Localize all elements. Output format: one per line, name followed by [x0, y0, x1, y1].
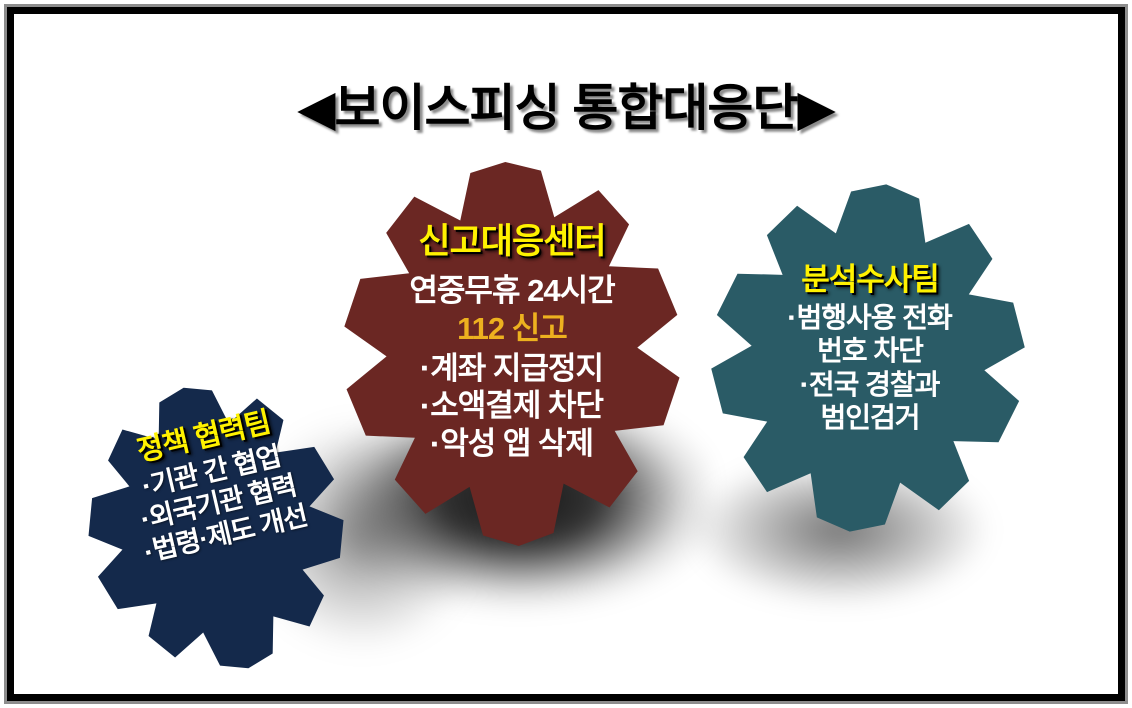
- analysis-team-line-2: ▪전국 경찰과: [700, 369, 1040, 401]
- analysis-team-line-0-text: 범행사용 전화: [796, 302, 951, 333]
- bullet-icon: ▪: [431, 434, 437, 456]
- analysis-team-line-3: 범인검거: [700, 402, 1040, 434]
- report-center-line-4: ▪악성 앱 삭제: [316, 426, 708, 462]
- report-center-line-1: 112 신고: [316, 311, 708, 347]
- bullet-icon: ▪: [421, 358, 427, 380]
- analysis-team-line-2-text: 전국 경찰과: [809, 369, 940, 400]
- report-center-line-2-text: 계좌 지급정지: [430, 351, 603, 386]
- report-center-textblock: 신고대응센터 연중무휴 24시간 112 신고 ▪계좌 지급정지 ▪소액결제 차…: [316, 222, 708, 464]
- report-center-line-0: 연중무휴 24시간: [316, 273, 708, 309]
- analysis-team-textblock: 분석수사팀 ▪범행사용 전화 번호 차단 ▪전국 경찰과 범인검거: [700, 262, 1040, 436]
- report-center-title: 신고대응센터: [316, 222, 708, 263]
- page-title: ◀보이스피싱 통합대응단▶: [0, 68, 1132, 140]
- report-center-bullets: ▪계좌 지급정지 ▪소액결제 차단 ▪악성 앱 삭제: [316, 351, 708, 463]
- report-center-line-2: ▪계좌 지급정지: [316, 351, 708, 387]
- analysis-team-line-0: ▪범행사용 전화: [700, 302, 1040, 334]
- slide-canvas: ◀보이스피싱 통합대응단▶ 분석수사팀 ▪범행사용 전화: [0, 0, 1132, 708]
- report-center-line-4-text: 악성 앱 삭제: [440, 426, 593, 461]
- bullet-icon: ▪: [421, 396, 427, 418]
- report-center-line-3: ▪소액결제 차단: [316, 388, 708, 424]
- report-center-line-3-text: 소액결제 차단: [430, 388, 603, 423]
- bullet-icon: ▪: [801, 374, 806, 394]
- analysis-team-line-1: 번호 차단: [700, 335, 1040, 367]
- analysis-team-title: 분석수사팀: [700, 262, 1040, 298]
- bullet-icon: ▪: [788, 307, 793, 327]
